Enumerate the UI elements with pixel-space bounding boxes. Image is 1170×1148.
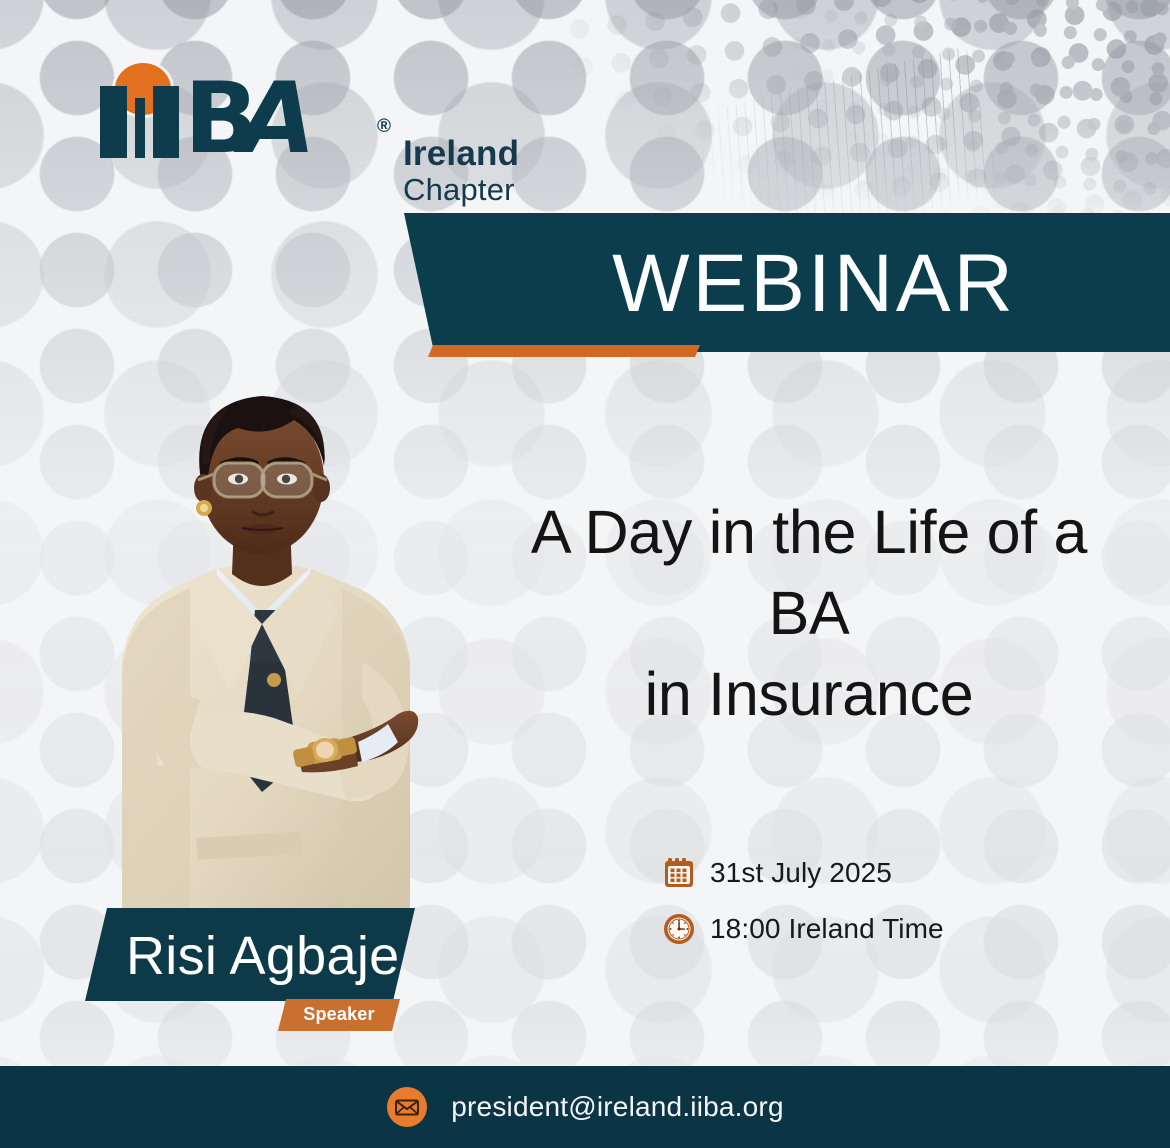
clock-icon bbox=[662, 912, 696, 946]
logo-letter-i-second bbox=[153, 86, 179, 158]
page-title: A Day in the Life of a BA in Insurance bbox=[450, 492, 1168, 735]
iiba-ireland-chapter-logo: B A ® Ireland Chapter bbox=[100, 58, 296, 158]
event-time-row: 18:00 Ireland Time bbox=[662, 912, 944, 946]
iiba-logo-mark: B A bbox=[100, 58, 296, 158]
title-line-1: A Day in the Life of a bbox=[450, 492, 1168, 573]
event-date-label: 31st July 2025 bbox=[710, 857, 892, 889]
contact-footer: president@ireland.iiba.org bbox=[0, 1066, 1170, 1148]
logo-wordmark: Ireland Chapter bbox=[403, 136, 519, 205]
event-time-label: 18:00 Ireland Time bbox=[710, 913, 944, 945]
halftone-dots-decoration-secondary bbox=[712, 0, 1170, 246]
title-line-3: in Insurance bbox=[450, 654, 1168, 735]
logo-letter-i-stem bbox=[135, 98, 145, 158]
logo-chapter-label: Chapter bbox=[403, 174, 519, 206]
webinar-poster: B A ® Ireland Chapter WEBINAR A Day in t… bbox=[0, 0, 1170, 1148]
registered-trademark-icon: ® bbox=[377, 116, 391, 138]
logo-letter-a: A bbox=[240, 86, 313, 152]
event-date-row: 31st July 2025 bbox=[662, 856, 944, 890]
logo-letter-b: B bbox=[184, 86, 246, 158]
email-icon bbox=[386, 1086, 428, 1128]
webinar-banner-label: WEBINAR bbox=[398, 243, 1170, 325]
speaker-role-label: Speaker bbox=[278, 1004, 400, 1025]
calendar-icon bbox=[662, 856, 696, 890]
logo-ireland-label: Ireland bbox=[403, 136, 519, 172]
webinar-banner-underline bbox=[428, 345, 700, 357]
speaker-name-label: Risi Agbaje bbox=[126, 929, 399, 983]
event-details: 31st July 2025 bbox=[662, 856, 944, 968]
title-line-2: BA bbox=[450, 573, 1168, 654]
webinar-banner: WEBINAR bbox=[398, 213, 1170, 352]
speaker-photo bbox=[62, 362, 462, 922]
logo-letter-i-first bbox=[100, 86, 127, 158]
contact-email-label: president@ireland.iiba.org bbox=[451, 1091, 783, 1123]
